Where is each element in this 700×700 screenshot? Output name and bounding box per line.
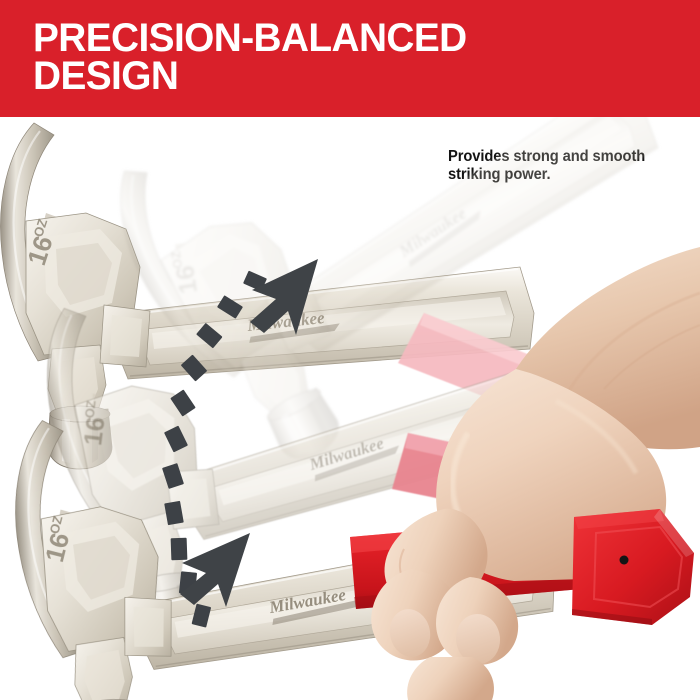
page-root: PRECISION-BALANCED DESIGN Provides stron… <box>0 0 700 700</box>
lanyard-hole <box>620 556 629 565</box>
hammer-illustration: 16 OZ Milwaukee <box>0 117 700 700</box>
page-title: PRECISION-BALANCED DESIGN <box>33 19 654 95</box>
header-banner: PRECISION-BALANCED DESIGN <box>0 0 700 117</box>
handle-end <box>572 509 694 625</box>
fingers <box>371 569 518 700</box>
